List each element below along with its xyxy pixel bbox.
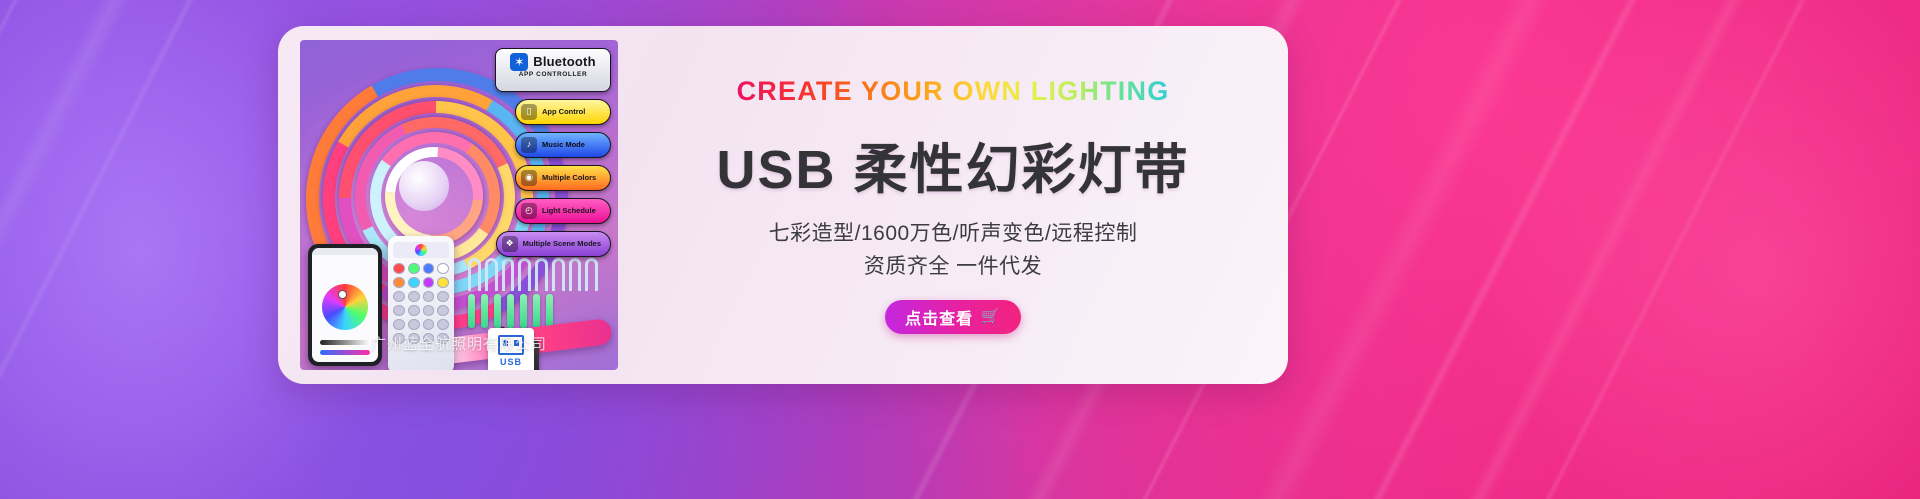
promo-banner: USB 广州蓝全航照明有限公司 ✶ Bluetooth APP CONTROLL… xyxy=(0,0,1920,499)
feature-badge-app-control[interactable]: ▯ App Control xyxy=(515,99,611,125)
view-details-button[interactable]: 点击查看 🛒 xyxy=(885,300,1021,334)
marketing-copy: CREATE YOUR OWN LIGHTING USB 柔性幻彩灯带 七彩造型… xyxy=(618,26,1288,384)
smartphone-icon: ▯ xyxy=(521,104,537,120)
view-details-label: 点击查看 xyxy=(905,305,973,329)
subtitle-line-1: 七彩造型/1600万色/听声变色/远程控制 xyxy=(769,218,1138,251)
feature-badge-multiple-colors-label: Multiple Colors xyxy=(542,174,596,182)
company-watermark: 广州蓝全航照明有限公司 xyxy=(300,333,618,354)
feature-badge-multiple-scene-modes[interactable]: ❖ Multiple Scene Modes xyxy=(496,231,611,257)
clock-icon: ◴ xyxy=(521,203,537,219)
banner-card: USB 广州蓝全航照明有限公司 ✶ Bluetooth APP CONTROLL… xyxy=(278,26,1288,384)
kicker-headline: CREATE YOUR OWN LIGHTING xyxy=(737,76,1170,107)
feature-badge-multiple-scene-modes-label: Multiple Scene Modes xyxy=(523,240,601,248)
feature-badge-music-mode-label: Music Mode xyxy=(542,141,585,149)
feature-badge-bluetooth-title: Bluetooth xyxy=(533,55,595,69)
feature-badge-app-control-label: App Control xyxy=(542,108,585,116)
bluetooth-icon: ✶ xyxy=(510,53,528,71)
feature-badge-light-schedule-label: Light Schedule xyxy=(542,207,596,215)
right-glow xyxy=(1480,0,1920,499)
bent-strip-samples-icon xyxy=(468,258,598,292)
usb-logo-label: USB xyxy=(500,357,522,367)
remote-dial-icon xyxy=(415,244,427,256)
music-note-icon: ♪ xyxy=(521,137,537,153)
feature-badge-bluetooth[interactable]: ✶ Bluetooth APP CONTROLLER xyxy=(495,48,611,92)
palette-icon: ◉ xyxy=(521,170,537,186)
shopping-cart-icon: 🛒 xyxy=(981,309,1001,324)
page-title: USB 柔性幻彩灯带 xyxy=(716,125,1189,204)
feature-badge-multiple-colors[interactable]: ◉ Multiple Colors xyxy=(515,165,611,191)
feature-badge-music-mode[interactable]: ♪ Music Mode xyxy=(515,132,611,158)
product-image-panel: USB 广州蓝全航照明有限公司 ✶ Bluetooth APP CONTROLL… xyxy=(300,40,618,370)
feature-badge-light-schedule[interactable]: ◴ Light Schedule xyxy=(515,198,611,224)
feature-badge-list: ✶ Bluetooth APP CONTROLLER ▯ App Control… xyxy=(495,48,611,257)
feature-badge-bluetooth-subtitle: APP CONTROLLER xyxy=(519,72,588,79)
scene-icon: ❖ xyxy=(502,236,518,252)
subtitle-line-2: 资质齐全 一件代发 xyxy=(864,251,1042,284)
